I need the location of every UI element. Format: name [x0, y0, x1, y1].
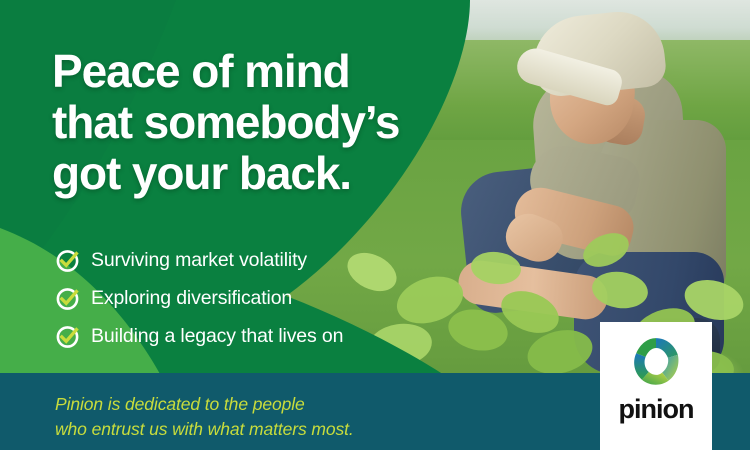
pinion-ring-logo-icon — [630, 335, 682, 387]
headline-line-2: that somebody’s — [52, 97, 522, 148]
check-circle-icon — [55, 324, 80, 349]
headline-line-3: got your back. — [52, 148, 522, 199]
list-item: Building a legacy that lives on — [55, 324, 485, 349]
list-item-label: Exploring diversification — [91, 289, 292, 309]
logo-card: pinion — [600, 322, 712, 450]
list-item: Exploring diversification — [55, 286, 485, 311]
check-circle-icon — [55, 286, 80, 311]
benefit-list: Surviving market volatility Exploring di… — [55, 248, 485, 362]
list-item: Surviving market volatility — [55, 248, 485, 273]
tagline-line-1: Pinion is dedicated to the people — [55, 392, 575, 417]
list-item-label: Surviving market volatility — [91, 251, 307, 271]
tagline-line-2: who entrust us with what matters most. — [55, 417, 575, 442]
logo-wordmark: pinion — [619, 396, 694, 423]
list-item-label: Building a legacy that lives on — [91, 327, 343, 347]
ad-banner: Peace of mind that somebody’s got your b… — [0, 0, 750, 450]
check-circle-icon — [55, 248, 80, 273]
headline-line-1: Peace of mind — [52, 46, 522, 97]
tagline: Pinion is dedicated to the people who en… — [55, 392, 575, 442]
page-title: Peace of mind that somebody’s got your b… — [52, 46, 522, 199]
